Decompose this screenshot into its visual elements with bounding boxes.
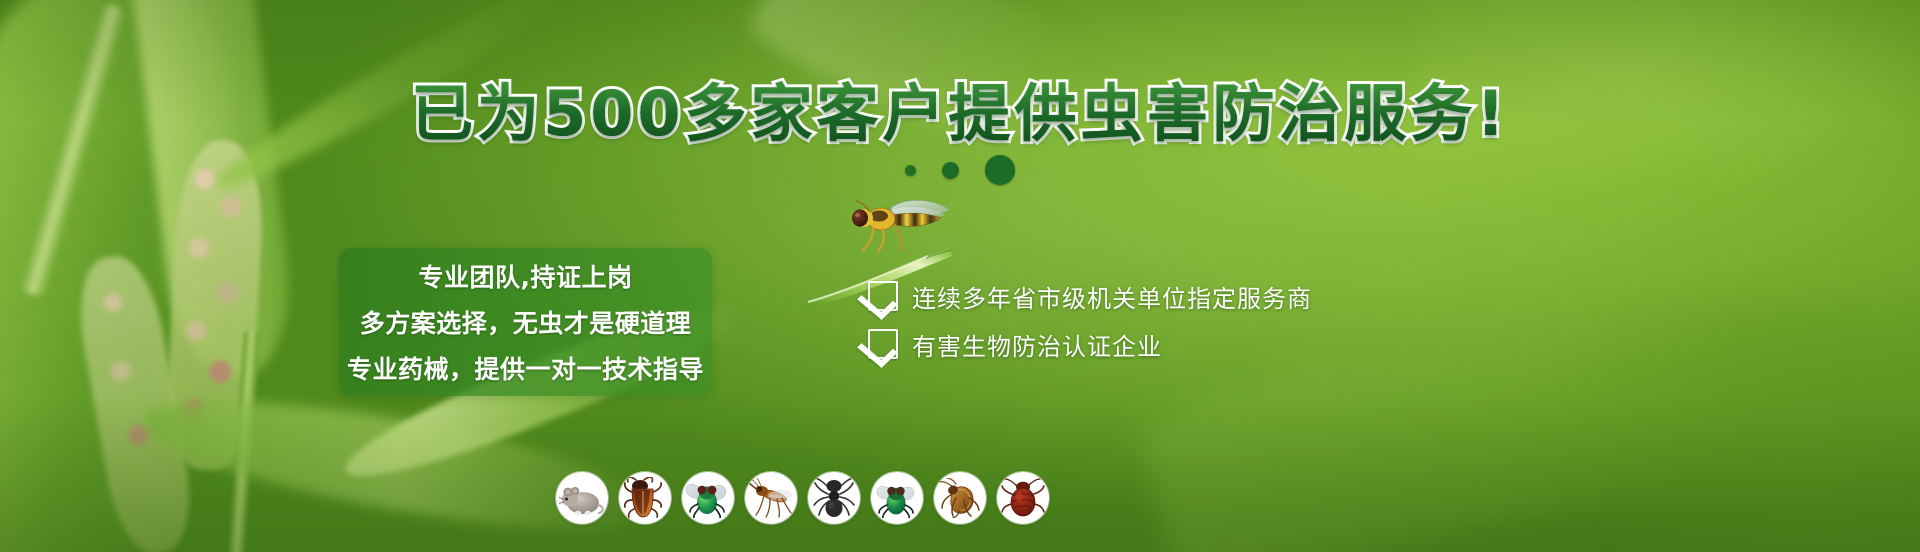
feature-line-1: 专业团队,持证上岗 bbox=[419, 258, 633, 294]
feature-line-3: 专业药械，提供一对一技术指导 bbox=[347, 350, 704, 386]
pest-icon-mouse[interactable] bbox=[556, 472, 608, 524]
pest-icon-housefly[interactable] bbox=[871, 472, 923, 524]
greenfly-icon bbox=[685, 478, 731, 518]
dot-large-icon bbox=[985, 155, 1015, 185]
pest-icon-bedbug[interactable] bbox=[997, 472, 1049, 524]
promo-banner: 已为500多家客户提供虫害防治服务! 已为500多家客户提供虫害防治服务! bbox=[0, 0, 1920, 552]
feature-line-2: 多方案选择，无虫才是硬道理 bbox=[360, 304, 692, 340]
features-panel: 专业团队,持证上岗 多方案选择，无虫才是硬道理 专业药械，提供一对一技术指导 bbox=[339, 248, 712, 396]
list-item: 有害生物防治认证企业 bbox=[868, 320, 1428, 368]
credentials-list: 连续多年省市级机关单位指定服务商 有害生物防治认证企业 bbox=[868, 272, 1428, 368]
hoverfly-icon bbox=[845, 198, 955, 254]
features-panel-lines: 专业团队,持证上岗 多方案选择，无虫才是硬道理 专业药械，提供一对一技术指导 bbox=[339, 248, 712, 396]
page-title-fill: 已为500多家客户提供虫害防治服务! bbox=[0, 78, 1920, 150]
checkbox-checked-icon bbox=[868, 281, 898, 311]
mouse-icon bbox=[559, 478, 605, 518]
ant-icon bbox=[812, 477, 856, 519]
pest-icon-greenfly[interactable] bbox=[682, 472, 734, 524]
page-title: 已为500多家客户提供虫害防治服务! 已为500多家客户提供虫害防治服务! bbox=[0, 78, 1920, 150]
decorative-dots bbox=[0, 155, 1920, 185]
pest-icon-cockroach[interactable] bbox=[619, 472, 671, 524]
credential-label: 连续多年省市级机关单位指定服务商 bbox=[912, 279, 1312, 314]
credential-label: 有害生物防治认证企业 bbox=[912, 327, 1162, 362]
list-item: 连续多年省市级机关单位指定服务商 bbox=[868, 272, 1428, 320]
pest-icon-row bbox=[556, 472, 1049, 524]
checkbox-checked-icon bbox=[868, 329, 898, 359]
housefly-icon bbox=[874, 478, 920, 518]
pest-icon-mosquito[interactable] bbox=[745, 472, 797, 524]
bedbug-icon bbox=[1001, 478, 1045, 518]
dot-medium-icon bbox=[942, 162, 959, 179]
mosquito-icon bbox=[748, 478, 794, 518]
cockroach-icon bbox=[623, 477, 667, 519]
pest-icon-flea[interactable] bbox=[934, 472, 986, 524]
flea-icon bbox=[938, 478, 982, 518]
dot-small-icon bbox=[905, 165, 916, 176]
pest-icon-ant[interactable] bbox=[808, 472, 860, 524]
